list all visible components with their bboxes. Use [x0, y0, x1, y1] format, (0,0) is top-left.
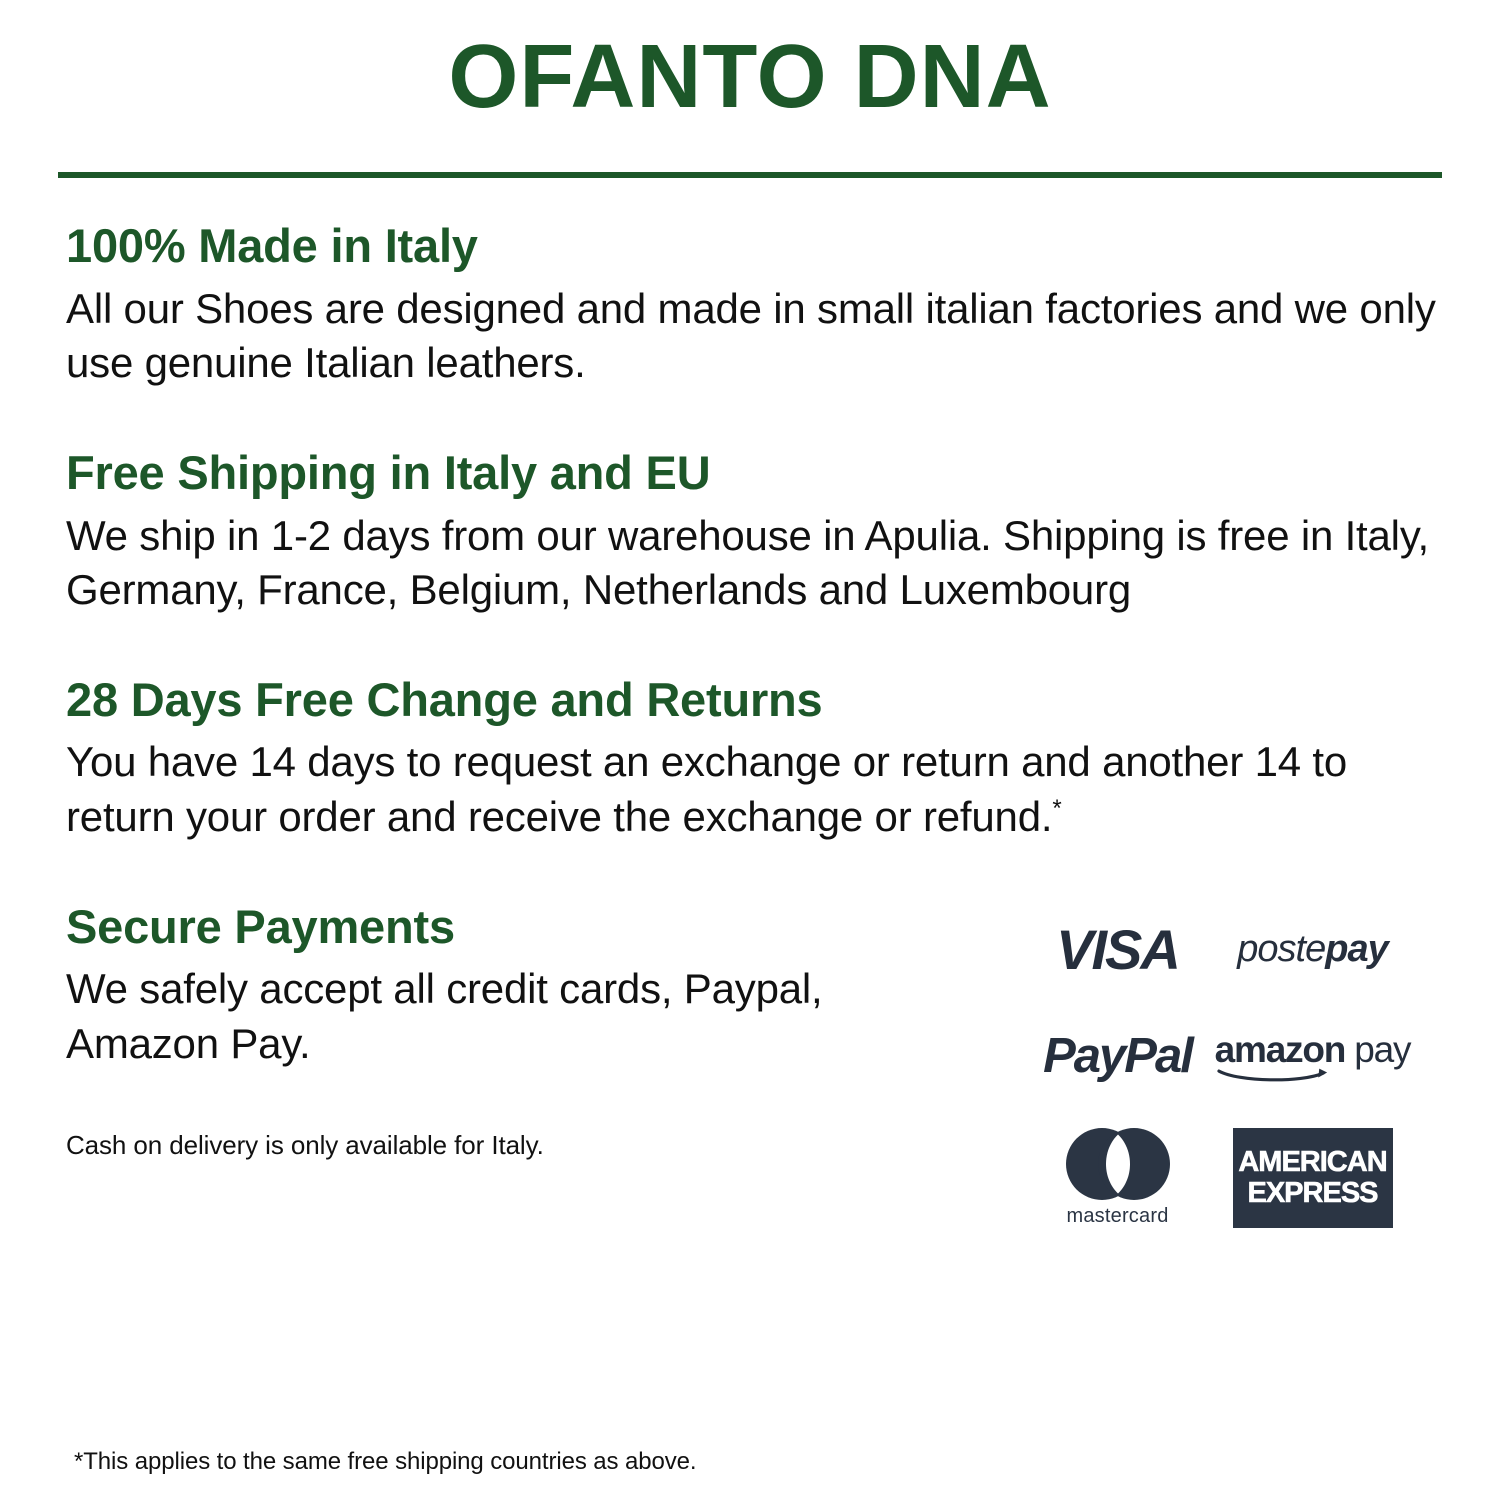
section-body-free-shipping: We ship in 1-2 days from our warehouse i…	[66, 509, 1442, 618]
section-heading-made-in-italy: 100% Made in Italy	[66, 220, 1442, 272]
visa-icon: VISA	[1056, 917, 1179, 982]
page-footnote: *This applies to the same free shipping …	[74, 1448, 696, 1476]
postepay-icon-part-bold: pay	[1325, 928, 1387, 970]
header-divider	[58, 172, 1442, 178]
paypal-icon: PayPal	[1043, 1028, 1192, 1084]
section-body-made-in-italy: All our Shoes are designed and made in s…	[66, 282, 1442, 391]
page-title: OFANTO DNA	[58, 0, 1442, 122]
returns-footnote-marker: *	[1052, 795, 1061, 822]
payment-logo-mastercard-cell: mastercard	[1020, 1123, 1215, 1233]
section-made-in-italy: 100% Made in Italy All our Shoes are des…	[58, 220, 1442, 391]
amex-line-2: EXPRESS	[1248, 1178, 1378, 1208]
mastercard-wordmark: mastercard	[1066, 1205, 1168, 1228]
mastercard-circles-icon	[1064, 1128, 1172, 1200]
payment-logo-visa-cell: VISA	[1020, 911, 1215, 989]
payment-logo-american-express-cell: AMERICAN EXPRESS	[1215, 1123, 1410, 1233]
amazon-pay-icon-part-light: pay	[1354, 1029, 1410, 1070]
mastercard-icon: mastercard	[1064, 1128, 1172, 1228]
amazon-pay-icon-part-bold: amazon	[1215, 1029, 1346, 1070]
amazon-smile-arrow-icon	[1217, 1067, 1335, 1083]
secure-payments-text-block: Secure Payments We safely accept all cre…	[58, 901, 958, 1161]
section-body-returns: You have 14 days to request an exchange …	[66, 735, 1442, 844]
payment-logos-grid: VISA postepay PayPal amazon pay	[1020, 911, 1420, 1233]
section-heading-free-shipping: Free Shipping in Italy and EU	[66, 447, 1442, 499]
payment-logo-postepay-cell: postepay	[1215, 911, 1410, 989]
section-heading-secure-payments: Secure Payments	[66, 901, 958, 953]
section-heading-returns: 28 Days Free Change and Returns	[66, 674, 1442, 726]
section-returns: 28 Days Free Change and Returns You have…	[58, 674, 1442, 845]
ofanto-dna-info-panel: OFANTO DNA 100% Made in Italy All our Sh…	[0, 0, 1500, 1500]
payment-logo-amazon-pay-cell: amazon pay	[1215, 1017, 1410, 1095]
postepay-icon-part-light: poste	[1237, 928, 1325, 970]
amex-line-1: AMERICAN	[1238, 1147, 1386, 1177]
american-express-icon: AMERICAN EXPRESS	[1233, 1128, 1393, 1228]
section-body-returns-text: You have 14 days to request an exchange …	[66, 738, 1347, 840]
amazon-pay-icon: amazon pay	[1215, 1029, 1411, 1083]
section-free-shipping: Free Shipping in Italy and EU We ship in…	[58, 447, 1442, 618]
section-secure-payments: Secure Payments We safely accept all cre…	[58, 901, 1442, 1233]
payment-logo-paypal-cell: PayPal	[1020, 1017, 1215, 1095]
section-body-secure-payments: We safely accept all credit cards, Paypa…	[66, 962, 958, 1071]
postepay-icon: postepay	[1237, 928, 1387, 971]
cash-on-delivery-note: Cash on delivery is only available for I…	[66, 1130, 958, 1161]
